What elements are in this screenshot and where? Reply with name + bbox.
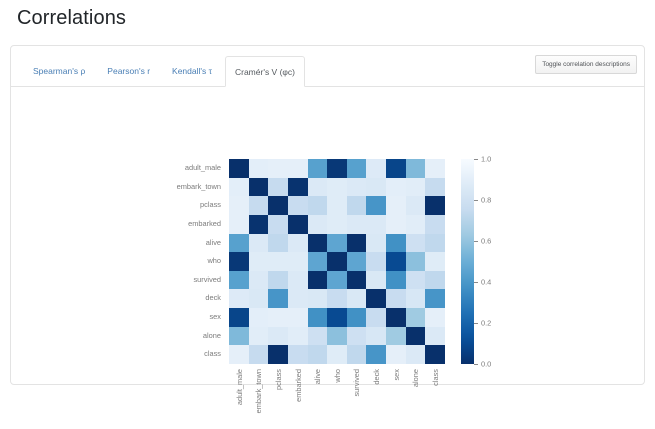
heatmap-cell — [288, 196, 308, 215]
x-tick-label: sex — [392, 369, 401, 381]
heatmap-cell — [268, 271, 288, 290]
heatmap-cell — [386, 308, 406, 327]
colorbar-tick — [474, 200, 478, 201]
tab-3[interactable]: Cramér's V (φc) — [225, 56, 305, 87]
heatmap-cell — [308, 234, 328, 253]
heatmap-cell — [308, 215, 328, 234]
heatmap-cell — [386, 289, 406, 308]
heatmap-cell — [366, 178, 386, 197]
heatmap-cell — [425, 178, 445, 197]
colorbar-tick — [474, 241, 478, 242]
heatmap-cell — [425, 327, 445, 346]
heatmap-cell — [229, 178, 249, 197]
heatmap-cell — [347, 289, 367, 308]
heatmap-cell — [327, 159, 347, 178]
x-tick-label: embarked — [294, 369, 303, 402]
correlation-heatmap-plot: adult_maleembark_townpclassembarkedalive… — [11, 87, 646, 384]
heatmap-cell — [406, 178, 426, 197]
heatmap-cell — [406, 308, 426, 327]
heatmap-cell — [327, 308, 347, 327]
y-tick-label: pclass — [200, 196, 221, 215]
heatmap-cell — [249, 215, 269, 234]
heatmap-cell — [249, 289, 269, 308]
y-tick-label: deck — [205, 289, 221, 308]
heatmap-cell — [308, 196, 328, 215]
heatmap-cell — [229, 327, 249, 346]
heatmap-cell — [386, 178, 406, 197]
heatmap-cell — [366, 234, 386, 253]
heatmap-cell — [366, 271, 386, 290]
heatmap-cell — [347, 196, 367, 215]
heatmap-cell — [327, 271, 347, 290]
heatmap-cell — [366, 215, 386, 234]
x-tick-slot: sex — [386, 369, 405, 427]
heatmap-cell — [229, 252, 249, 271]
correlations-card: Spearman's ρPearson's rKendall's τCramér… — [10, 45, 645, 385]
heatmap-cell — [288, 345, 308, 364]
heatmap-cell — [425, 252, 445, 271]
heatmap-cell — [386, 215, 406, 234]
heatmap-cell — [406, 327, 426, 346]
heatmap-cell — [249, 178, 269, 197]
heatmap-cell — [425, 271, 445, 290]
heatmap-cell — [347, 308, 367, 327]
heatmap-cell — [425, 215, 445, 234]
heatmap-cell — [366, 252, 386, 271]
colorbar-tick-label: 0.4 — [481, 278, 491, 287]
heatmap-cell — [229, 289, 249, 308]
heatmap-cell — [249, 159, 269, 178]
heatmap-cell — [347, 271, 367, 290]
heatmap-cell — [327, 196, 347, 215]
heatmap-cell — [327, 178, 347, 197]
colorbar-gradient — [461, 159, 474, 364]
heatmap-cell — [425, 196, 445, 215]
heatmap-cell — [347, 252, 367, 271]
heatmap-cell — [327, 234, 347, 253]
heatmap-cell — [249, 327, 269, 346]
heatmap-cell — [425, 289, 445, 308]
heatmap-cell — [288, 289, 308, 308]
x-tick-slot: alone — [406, 369, 425, 427]
heatmap-cell — [308, 271, 328, 290]
toggle-correlation-descriptions-button[interactable]: Toggle correlation descriptions — [535, 55, 637, 74]
x-tick-slot: pclass — [268, 369, 287, 427]
heatmap-cell — [386, 271, 406, 290]
heatmap-cell — [308, 289, 328, 308]
heatmap-cell — [386, 252, 406, 271]
heatmap-cell — [347, 159, 367, 178]
x-tick-label: alive — [313, 369, 322, 384]
heatmap-cell — [249, 252, 269, 271]
colorbar-tick-label: 0.0 — [481, 360, 491, 369]
colorbar-tick — [474, 323, 478, 324]
heatmap-cell — [308, 159, 328, 178]
heatmap-cell — [406, 345, 426, 364]
heatmap-cell — [229, 215, 249, 234]
heatmap-cell — [386, 196, 406, 215]
heatmap-cell — [425, 308, 445, 327]
heatmap-cell — [386, 327, 406, 346]
colorbar-tick-label: 0.8 — [481, 196, 491, 205]
colorbar-tick — [474, 159, 478, 160]
colorbar-tick — [474, 282, 478, 283]
heatmap-cell — [229, 345, 249, 364]
colorbar-tick-label: 0.6 — [481, 237, 491, 246]
heatmap-cell — [268, 215, 288, 234]
heatmap-cell — [249, 345, 269, 364]
x-tick-slot: embark_town — [249, 369, 268, 427]
x-tick-label: class — [431, 369, 440, 386]
heatmap-cell — [347, 234, 367, 253]
x-tick-slot: who — [327, 369, 346, 427]
heatmap-cell — [268, 308, 288, 327]
heatmap-cell — [327, 289, 347, 308]
y-tick-label: class — [204, 345, 221, 364]
heatmap-cell — [288, 178, 308, 197]
colorbar-tick-label: 0.2 — [481, 319, 491, 328]
heatmap-cell — [268, 196, 288, 215]
heatmap-cell — [406, 215, 426, 234]
heatmap-cell — [347, 327, 367, 346]
heatmap-cell — [288, 159, 308, 178]
heatmap-cell — [229, 234, 249, 253]
heatmap-cell — [406, 234, 426, 253]
heatmap-cell — [268, 327, 288, 346]
x-tick-slot: class — [425, 369, 444, 427]
heatmap-cell — [366, 196, 386, 215]
heatmap-cell — [347, 345, 367, 364]
heatmap-cell — [327, 327, 347, 346]
y-tick-label: embarked — [188, 215, 221, 234]
heatmap-cell — [268, 178, 288, 197]
heatmap-cell — [268, 289, 288, 308]
y-tick-label: alone — [203, 327, 221, 346]
heatmap-cell — [288, 327, 308, 346]
tab-1[interactable]: Pearson's r — [98, 56, 159, 87]
x-tick-label: pclass — [274, 369, 283, 390]
heatmap-cell — [268, 159, 288, 178]
heatmap-cell — [347, 178, 367, 197]
heatmap-cell — [425, 159, 445, 178]
x-tick-slot: survived — [347, 369, 366, 427]
x-tick-slot: alive — [308, 369, 327, 427]
heatmap-cell — [366, 308, 386, 327]
heatmap-cell — [308, 252, 328, 271]
heatmap-cell — [406, 289, 426, 308]
heatmap-cell — [249, 271, 269, 290]
heatmap-cell — [288, 234, 308, 253]
heatmap-cell — [308, 327, 328, 346]
x-tick-slot: deck — [366, 369, 385, 427]
heatmap-cell — [366, 289, 386, 308]
heatmap-cell — [268, 234, 288, 253]
heatmap-cell — [406, 159, 426, 178]
heatmap-cell — [288, 308, 308, 327]
heatmap-cell — [229, 196, 249, 215]
heatmap-cell — [406, 252, 426, 271]
x-tick-label: embark_town — [254, 369, 263, 413]
heatmap-cell — [366, 345, 386, 364]
heatmap-cell — [288, 271, 308, 290]
heatmap-colorbar: 0.00.20.40.60.81.0 — [461, 159, 521, 364]
heatmap-cell — [249, 308, 269, 327]
heatmap-cell — [249, 196, 269, 215]
heatmap-cell — [347, 215, 367, 234]
heatmap-cell — [327, 252, 347, 271]
heatmap-y-axis-labels: adult_maleembark_townpclassembarkedalive… — [114, 159, 226, 364]
heatmap-cell — [327, 215, 347, 234]
y-tick-label: embark_town — [177, 178, 221, 197]
x-tick-label: who — [333, 369, 342, 383]
heatmap-cell — [249, 234, 269, 253]
heatmap-cell — [386, 234, 406, 253]
y-tick-label: survived — [193, 271, 221, 290]
heatmap-cell — [386, 345, 406, 364]
heatmap-cell — [229, 308, 249, 327]
heatmap-cell — [288, 215, 308, 234]
heatmap-cell — [406, 271, 426, 290]
heatmap-x-axis-labels: adult_maleembark_townpclassembarkedalive… — [229, 369, 454, 429]
page-title: Correlations — [17, 7, 126, 30]
x-tick-label: alone — [411, 369, 420, 387]
tab-2[interactable]: Kendall's τ — [163, 56, 221, 87]
heatmap-grid — [229, 159, 445, 364]
heatmap-cell — [327, 345, 347, 364]
heatmap-cell — [425, 345, 445, 364]
y-tick-label: adult_male — [185, 159, 221, 178]
colorbar-tick-label: 1.0 — [481, 155, 491, 164]
heatmap-cell — [308, 345, 328, 364]
y-tick-label: sex — [209, 308, 221, 327]
heatmap-cell — [268, 345, 288, 364]
heatmap-cell — [425, 234, 445, 253]
x-tick-label: deck — [372, 369, 381, 385]
heatmap-cell — [268, 252, 288, 271]
heatmap-cell — [406, 196, 426, 215]
heatmap-cell — [229, 271, 249, 290]
x-tick-slot: adult_male — [229, 369, 248, 427]
y-tick-label: who — [207, 252, 221, 271]
heatmap-cell — [308, 308, 328, 327]
heatmap-cell — [229, 159, 249, 178]
x-tick-slot: embarked — [288, 369, 307, 427]
tab-0[interactable]: Spearman's ρ — [24, 56, 94, 87]
heatmap-cell — [386, 159, 406, 178]
heatmap-cell — [366, 159, 386, 178]
colorbar-tick — [474, 364, 478, 365]
heatmap-cell — [288, 252, 308, 271]
y-tick-label: alive — [206, 234, 221, 253]
heatmap-cell — [366, 327, 386, 346]
heatmap-cell — [308, 178, 328, 197]
x-tick-label: survived — [352, 369, 361, 397]
